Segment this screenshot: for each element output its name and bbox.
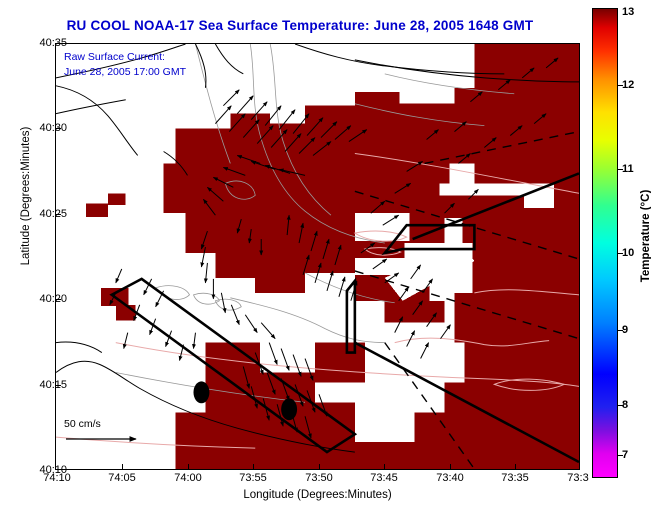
colorbar-tick-mark bbox=[618, 455, 623, 456]
y-axis-label: Latitude (Degrees:Minutes) bbox=[20, 86, 32, 306]
y-tick-mark bbox=[55, 385, 61, 386]
x-tick-mark bbox=[122, 464, 123, 470]
x-tick-mark bbox=[188, 464, 189, 470]
colorbar-tick-mark bbox=[618, 169, 623, 170]
scale-bar-label: 50 cm/s bbox=[64, 418, 174, 430]
colorbar-tick-label: 10 bbox=[622, 247, 634, 259]
x-axis-label: Longitude (Degrees:Minutes) bbox=[55, 489, 580, 501]
annotation-line-1: Raw Surface Current: bbox=[64, 50, 186, 65]
x-tick-label: 73:3 bbox=[567, 472, 588, 484]
colorbar-label: Temperature (°C) bbox=[640, 156, 651, 316]
colorbar-tick-mark bbox=[618, 253, 623, 254]
x-tick-mark bbox=[384, 464, 385, 470]
x-tick-mark bbox=[515, 464, 516, 470]
x-tick-label: 73:50 bbox=[305, 472, 333, 484]
station-marker bbox=[193, 381, 209, 403]
scale-bar-arrow-icon bbox=[64, 432, 174, 446]
map-plot-area[interactable]: Raw Surface Current: June 28, 2005 17:00… bbox=[55, 43, 580, 470]
y-tick-mark bbox=[55, 128, 61, 129]
colorbar bbox=[592, 8, 618, 478]
x-tick-mark bbox=[450, 464, 451, 470]
figure-canvas: RU COOL NOAA-17 Sea Surface Temperature:… bbox=[0, 0, 651, 515]
colorbar-gradient bbox=[593, 9, 617, 477]
y-tick-mark bbox=[55, 214, 61, 215]
x-tick-mark bbox=[319, 464, 320, 470]
y-tick-label: 40:35 bbox=[15, 37, 67, 49]
annotation-line-2: June 28, 2005 17:00 GMT bbox=[64, 65, 186, 80]
x-tick-mark bbox=[253, 464, 254, 470]
colorbar-tick-mark bbox=[618, 405, 623, 406]
colorbar-tick-label: 13 bbox=[622, 6, 634, 18]
colorbar-tick-mark bbox=[618, 330, 623, 331]
colorbar-tick-label: 11 bbox=[622, 163, 634, 175]
colorbar-tick-mark bbox=[618, 85, 623, 86]
x-tick-label: 73:40 bbox=[436, 472, 464, 484]
x-tick-label: 73:45 bbox=[370, 472, 398, 484]
colorbar-tick-label: 12 bbox=[622, 79, 634, 91]
x-tick-label: 74:10 bbox=[43, 472, 71, 484]
y-tick-mark bbox=[55, 299, 61, 300]
map-graphic bbox=[56, 44, 579, 469]
station-marker bbox=[281, 398, 297, 420]
current-annotation: Raw Surface Current: June 28, 2005 17:00… bbox=[64, 50, 186, 80]
x-tick-label: 73:35 bbox=[501, 472, 529, 484]
x-tick-label: 73:55 bbox=[239, 472, 267, 484]
figure-title: RU COOL NOAA-17 Sea Surface Temperature:… bbox=[0, 18, 600, 33]
vector-scale-bar: 50 cm/s bbox=[64, 418, 174, 451]
x-tick-label: 74:00 bbox=[174, 472, 202, 484]
x-tick-label: 74:05 bbox=[108, 472, 136, 484]
